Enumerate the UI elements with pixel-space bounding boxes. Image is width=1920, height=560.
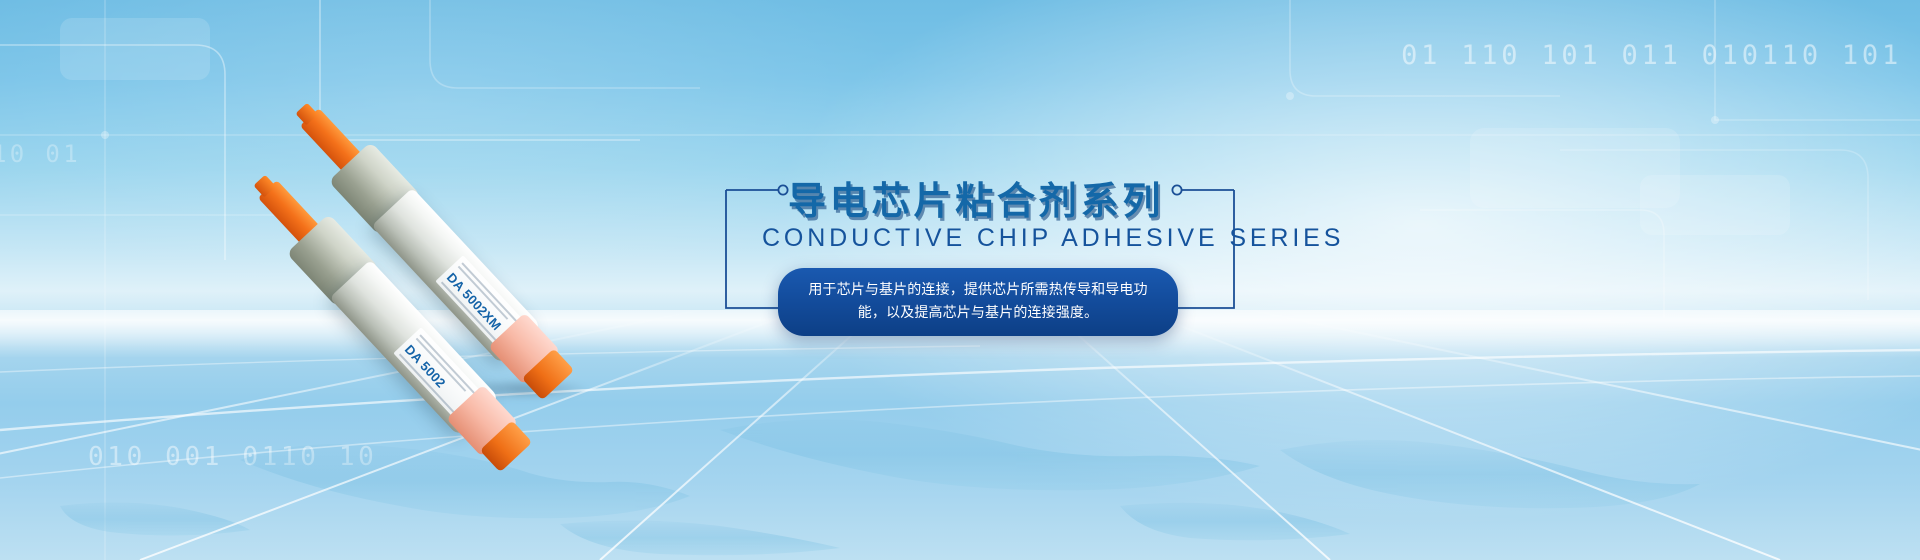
binary-decor-mid-left: 10 01: [0, 140, 81, 168]
binary-decor-top-right: 01 110 101 011 010110 101: [1401, 40, 1902, 71]
banner-title-chinese: 导电芯片粘合剂系列: [788, 170, 1164, 225]
product-image-syringes: DA 5002XM DA 5002: [330, 110, 660, 410]
bracket-dot-left: [778, 185, 787, 194]
hero-text-block: 导电芯片粘合剂系列 CONDUCTIVE CHIP ADHESIVE SERIE…: [720, 168, 1240, 320]
description-text: 用于芯片与基片的连接，提供芯片所需热传导和导电功能，以及提高芯片与基片的连接强度…: [798, 279, 1158, 324]
syringe-label-brand-back: DA 5002XM: [444, 270, 505, 333]
hero-banner: 01 110 101 011 010110 101 10 01 010 001 …: [0, 0, 1920, 560]
banner-title-english: CONDUCTIVE CHIP ADHESIVE SERIES: [762, 224, 1344, 253]
description-pill-box: 用于芯片与基片的连接，提供芯片所需热传导和导电功能，以及提高芯片与基片的连接强度…: [778, 268, 1178, 336]
perspective-ground: [0, 310, 1920, 560]
bracket-dot-right: [1172, 185, 1181, 194]
